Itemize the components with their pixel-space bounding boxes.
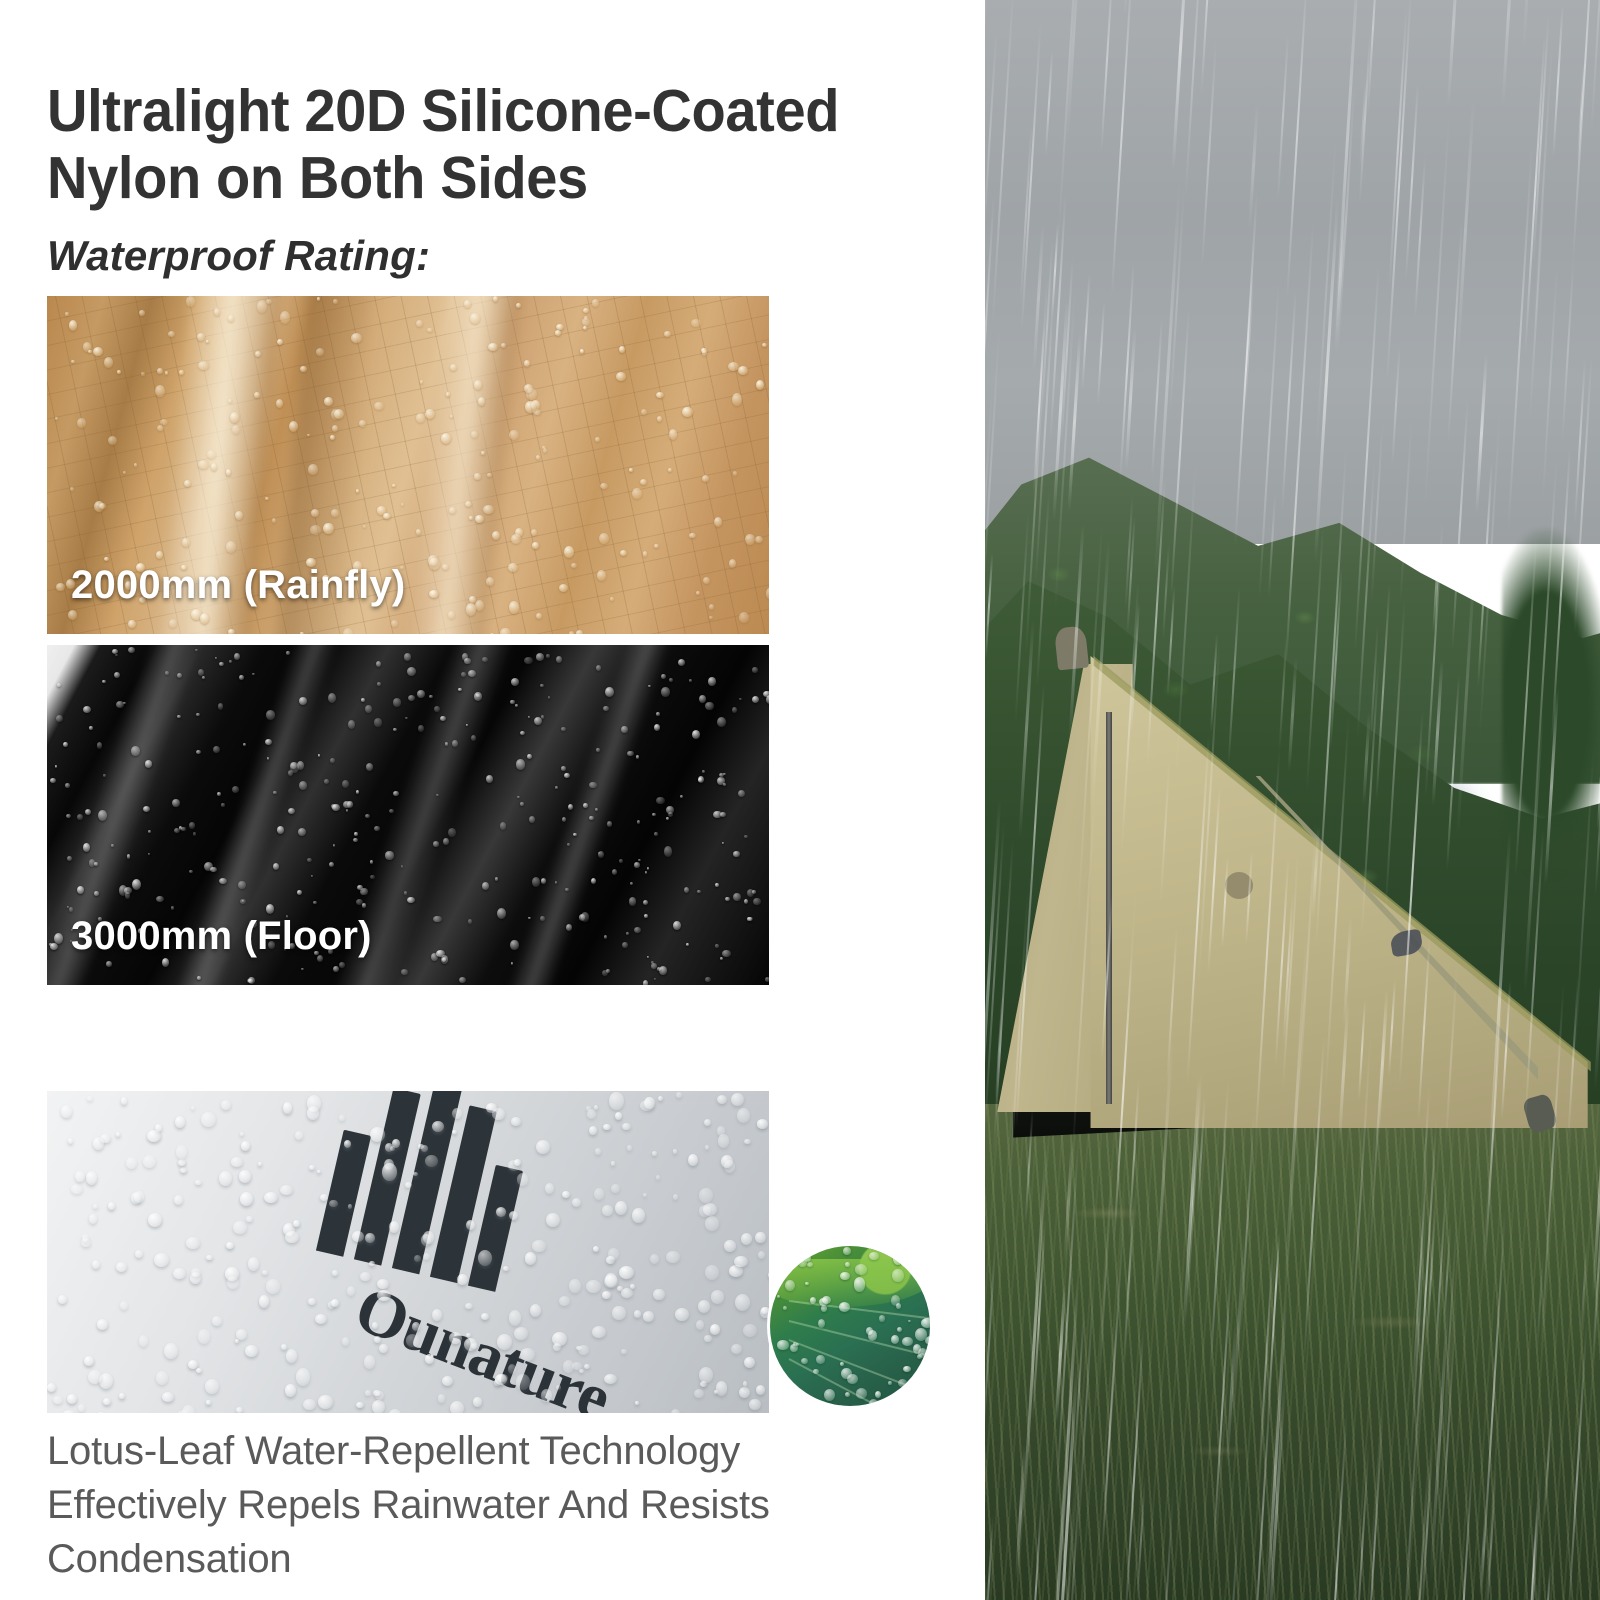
page-title: Ultralight 20D Silicone-Coated Nylon on …: [47, 78, 921, 211]
brand-fabric-photo: Ounature: [47, 1091, 769, 1413]
waterproof-rating-label: Waterproof Rating:: [47, 232, 430, 280]
floor-fabric-photo: 3000mm (Floor): [47, 645, 769, 985]
pyramid-tent: [985, 0, 1600, 1600]
rainfly-rating-caption: 2000mm (Rainfly): [71, 563, 405, 608]
trekking-pole: [1106, 712, 1113, 1104]
water-droplets-beaded-overlay: [47, 1091, 769, 1413]
tent-right-panel: [1059, 656, 1588, 1128]
left-content-panel: Ultralight 20D Silicone-Coated Nylon on …: [0, 0, 985, 1600]
lotus-leaf-icon: [770, 1246, 930, 1406]
tent-apex-cap: [1054, 626, 1089, 671]
tent-in-rain-photo: [985, 0, 1600, 1600]
lotus-technology-description: Lotus-Leaf Water-Repellent Technology Ef…: [47, 1424, 907, 1586]
leaf-water-droplets: [770, 1246, 930, 1406]
floor-rating-caption: 3000mm (Floor): [71, 914, 372, 959]
rainfly-fabric-photo: 2000mm (Rainfly): [47, 296, 769, 634]
